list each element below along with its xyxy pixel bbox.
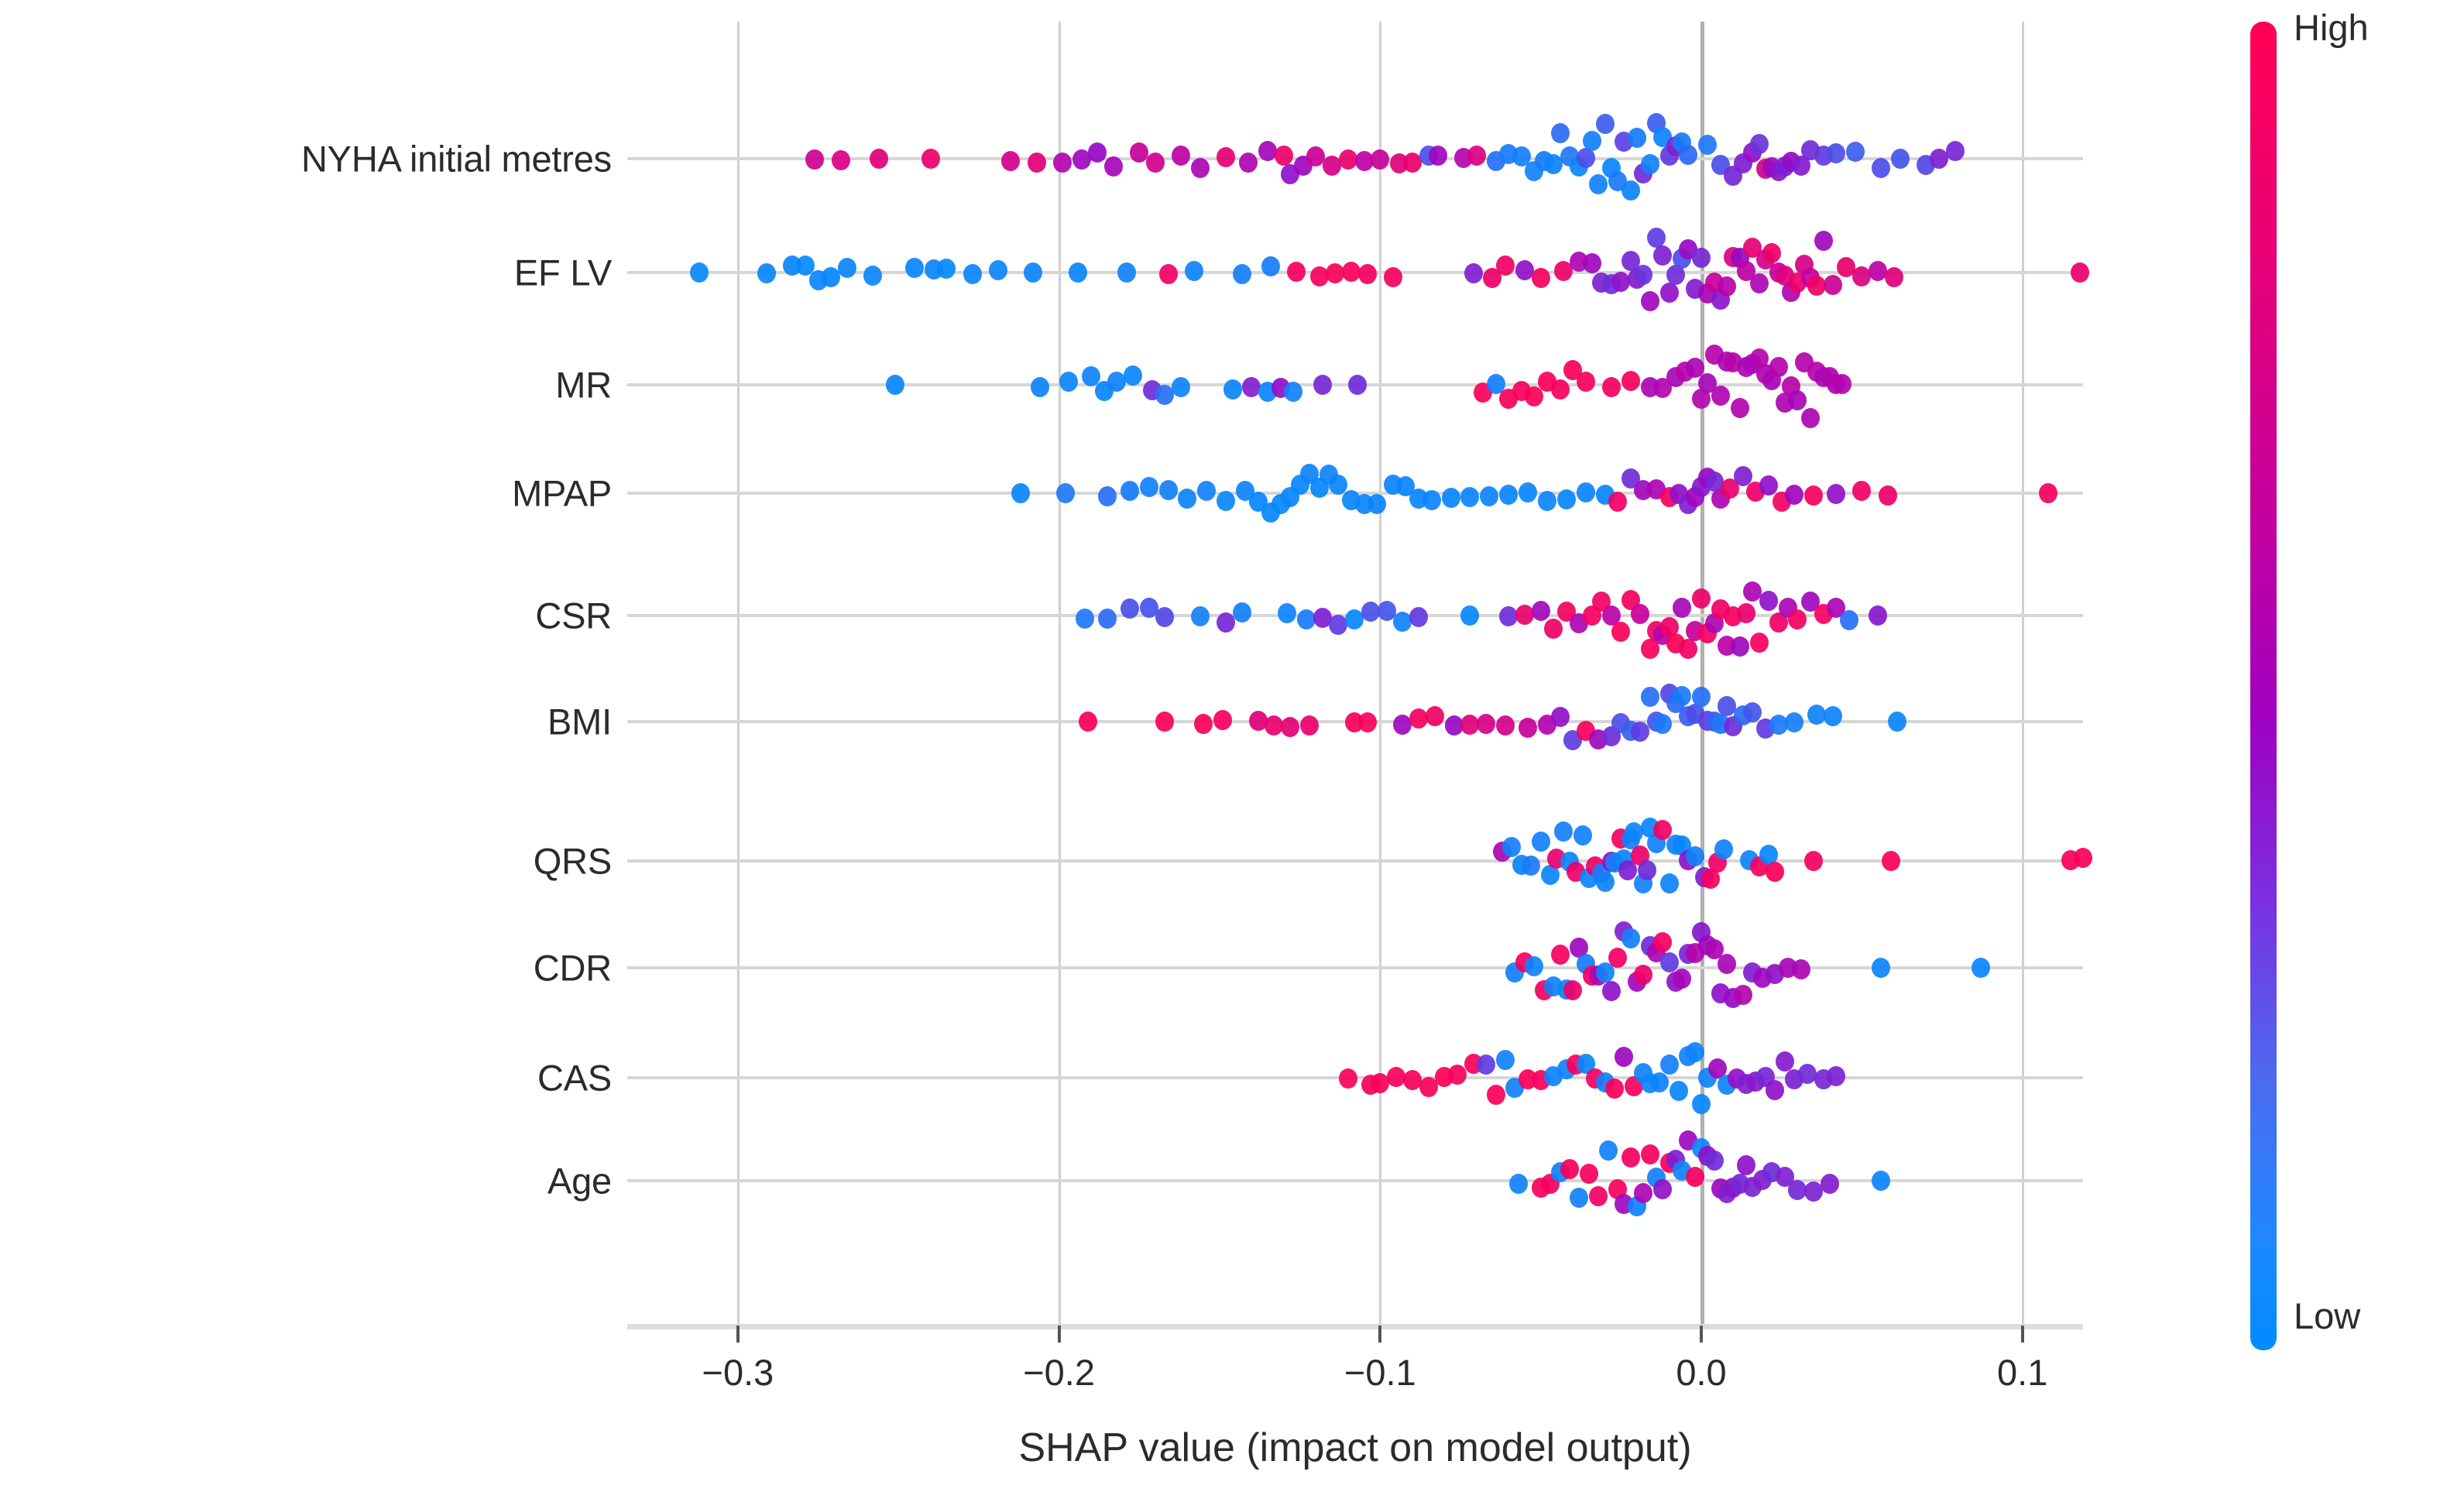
beeswarm-point: [1762, 243, 1781, 263]
beeswarm-point: [1653, 1179, 1672, 1199]
beeswarm-point: [1650, 1072, 1669, 1092]
beeswarm-point: [1692, 687, 1711, 707]
beeswarm-point: [1059, 372, 1078, 392]
beeswarm-point: [1120, 481, 1139, 501]
beeswarm-point: [1827, 1066, 1845, 1086]
x-axis-tick-label-0: −0.3: [702, 1351, 774, 1394]
beeswarm-point: [1329, 475, 1347, 495]
beeswarm-point: [1178, 489, 1196, 509]
beeswarm-point: [1191, 606, 1210, 626]
beeswarm-point: [838, 258, 856, 278]
beeswarm-point: [1776, 1051, 1794, 1072]
beeswarm-point: [1634, 265, 1652, 285]
beeswarm-point: [1496, 256, 1515, 276]
beeswarm-point: [1596, 114, 1615, 134]
beeswarm-point: [1024, 262, 1042, 283]
beeswarm-point: [1069, 262, 1087, 283]
beeswarm-point: [1313, 375, 1332, 395]
beeswarm-point: [1124, 365, 1142, 386]
beeswarm-point: [1605, 1079, 1624, 1099]
beeswarm-point: [1172, 146, 1190, 166]
beeswarm-point: [1804, 485, 1823, 506]
beeswarm-point: [1804, 851, 1823, 871]
beeswarm-point: [1718, 276, 1736, 297]
beeswarm-point: [1544, 619, 1563, 639]
beeswarm-point: [1557, 489, 1576, 509]
beeswarm-point: [1872, 158, 1890, 178]
beeswarm-point: [1233, 602, 1251, 622]
beeswarm-point: [1641, 291, 1659, 311]
beeswarm-point: [1570, 1188, 1588, 1208]
beeswarm-point: [1104, 156, 1123, 177]
beeswarm-point: [1660, 283, 1679, 303]
beeswarm-point: [1001, 151, 1020, 171]
beeswarm-point: [1660, 1055, 1679, 1075]
y-axis-labels: NYHA initial metresEF LVMRMPAPCSRBMIQRSC…: [0, 0, 612, 1509]
beeswarm-point: [1577, 372, 1595, 392]
beeswarm-point: [1522, 856, 1540, 876]
beeswarm-point: [1422, 490, 1441, 510]
beeswarm-point: [1191, 158, 1210, 178]
y-axis-tick-label-9: Age: [547, 1160, 612, 1202]
beeswarm-point: [1718, 954, 1736, 974]
beeswarm-point: [1261, 256, 1280, 276]
beeswarm-point: [2071, 262, 2089, 283]
beeswarm-point: [1146, 153, 1165, 173]
beeswarm-point: [1464, 263, 1483, 283]
beeswarm-point: [1608, 492, 1627, 512]
beeswarm-point: [1217, 147, 1235, 167]
beeswarm-point: [1577, 482, 1595, 502]
beeswarm-point: [1159, 264, 1178, 284]
beeswarm-point: [1634, 965, 1652, 985]
beeswarm-point: [1622, 928, 1640, 948]
y-axis-tick-label-7: CDR: [534, 947, 612, 989]
beeswarm-point: [1477, 1055, 1495, 1075]
beeswarm-point: [1217, 491, 1235, 511]
axis-bottom-spine: [627, 1324, 2083, 1329]
gridline-vertical: [2022, 22, 2024, 1324]
beeswarm-point: [1670, 1081, 1688, 1101]
gridline-horizontal: [627, 966, 2083, 969]
beeswarm-point: [1788, 390, 1807, 410]
beeswarm-point: [1972, 958, 1990, 978]
beeswarm-point: [963, 264, 982, 284]
beeswarm-point: [1480, 486, 1498, 506]
colorbar-gradient: [2250, 22, 2277, 1350]
beeswarm-point: [1641, 154, 1659, 174]
beeswarm-point: [1785, 485, 1803, 505]
beeswarm-point: [1348, 375, 1367, 395]
beeswarm-point: [1172, 377, 1190, 397]
beeswarm-point: [1140, 477, 1158, 497]
beeswarm-point: [1496, 715, 1515, 736]
beeswarm-point: [1824, 706, 1842, 726]
x-axis-tickmark-4: [2021, 1326, 2024, 1343]
beeswarm-point: [1641, 687, 1659, 707]
beeswarm-point: [1368, 494, 1386, 514]
beeswarm-point: [1358, 264, 1377, 284]
beeswarm-point: [1098, 486, 1117, 506]
beeswarm-point: [1814, 231, 1833, 251]
beeswarm-point: [1759, 591, 1778, 611]
beeswarm-point: [1011, 483, 1030, 503]
gridline-vertical: [1379, 22, 1381, 1324]
x-axis-tick-label-1: −0.2: [1023, 1351, 1095, 1394]
beeswarm-point: [1031, 377, 1049, 397]
beeswarm-point: [1827, 143, 1845, 163]
beeswarm-point: [1750, 134, 1769, 154]
beeswarm-point: [1882, 851, 1900, 871]
plot-area: [627, 22, 2083, 1324]
beeswarm-point: [1766, 1080, 1784, 1100]
beeswarm-point: [1692, 588, 1711, 609]
beeswarm-point: [1673, 969, 1691, 989]
beeswarm-point: [1098, 609, 1117, 629]
gridline-vertical: [1059, 22, 1061, 1324]
beeswarm-point: [1554, 821, 1573, 842]
beeswarm-point: [1076, 609, 1094, 629]
colorbar-low-label: Low: [2294, 1295, 2360, 1337]
beeswarm-point: [2039, 483, 2057, 503]
beeswarm-point: [1580, 1164, 1598, 1184]
beeswarm-point: [1660, 873, 1679, 893]
beeswarm-point: [1750, 633, 1769, 653]
beeswarm-point: [1460, 487, 1479, 507]
beeswarm-point: [1692, 1094, 1711, 1114]
x-axis-tick-label-2: −0.1: [1344, 1351, 1416, 1394]
y-axis-tick-label-2: MR: [555, 364, 612, 406]
beeswarm-point: [1673, 598, 1691, 618]
beeswarm-point: [1185, 261, 1203, 281]
beeswarm-point: [1117, 262, 1136, 283]
beeswarm-point: [1448, 1065, 1467, 1085]
beeswarm-point: [1300, 715, 1319, 736]
beeswarm-point: [1821, 1174, 1839, 1194]
beeswarm-point: [1852, 481, 1871, 501]
beeswarm-point: [1737, 1155, 1755, 1175]
beeswarm-point: [1750, 273, 1769, 293]
beeswarm-point: [937, 259, 956, 279]
beeswarm-point: [1759, 475, 1778, 496]
y-axis-tick-label-0: NYHA initial metres: [301, 138, 612, 180]
colorbar: [2250, 22, 2277, 1350]
beeswarm-point: [1653, 714, 1672, 734]
beeswarm-point: [870, 149, 888, 169]
gridline-horizontal: [627, 1179, 2083, 1182]
beeswarm-point: [1785, 712, 1803, 732]
beeswarm-point: [1788, 609, 1807, 629]
beeswarm-point: [1194, 714, 1213, 734]
gridline-vertical: [737, 22, 740, 1324]
beeswarm-point: [1409, 607, 1428, 627]
beeswarm-point: [1487, 1085, 1505, 1105]
beeswarm-point: [1731, 636, 1749, 657]
beeswarm-point: [1743, 702, 1762, 722]
beeswarm-point: [1641, 1144, 1659, 1164]
beeswarm-point: [1551, 707, 1570, 727]
beeswarm-point: [863, 266, 882, 286]
beeswarm-point: [1869, 605, 1887, 626]
beeswarm-point: [1499, 485, 1518, 505]
beeswarm-point: [1615, 1047, 1633, 1067]
beeswarm-point: [1622, 1147, 1640, 1168]
beeswarm-point: [1563, 980, 1582, 1000]
beeswarm-point: [1631, 722, 1649, 742]
x-axis-tickmark-1: [1058, 1326, 1061, 1343]
beeswarm-point: [989, 260, 1007, 280]
beeswarm-point: [1589, 1186, 1608, 1206]
y-axis-tick-label-8: CAS: [537, 1057, 612, 1099]
y-axis-tick-label-3: MPAP: [512, 472, 612, 515]
beeswarm-point: [1653, 932, 1672, 952]
beeswarm-point: [1358, 712, 1377, 732]
beeswarm-point: [1467, 146, 1486, 166]
beeswarm-point: [1053, 153, 1072, 173]
beeswarm-point: [1686, 846, 1704, 866]
beeswarm-point: [1371, 149, 1389, 170]
x-axis-tickmark-3: [1700, 1326, 1703, 1343]
beeswarm-point: [1056, 483, 1075, 503]
beeswarm-point: [1155, 712, 1174, 732]
beeswarm-point: [1602, 981, 1621, 1001]
beeswarm-point: [1824, 275, 1842, 295]
beeswarm-point: [921, 149, 940, 169]
beeswarm-point: [1120, 598, 1139, 619]
beeswarm-point: [1509, 1174, 1528, 1194]
beeswarm-point: [1496, 1050, 1515, 1070]
beeswarm-point: [757, 263, 776, 283]
beeswarm-point: [1711, 386, 1730, 406]
beeswarm-point: [1653, 245, 1672, 266]
beeswarm-point: [1946, 141, 1965, 161]
beeswarm-point: [1827, 484, 1845, 504]
beeswarm-point: [1281, 717, 1299, 737]
beeswarm-point: [1801, 408, 1820, 428]
beeswarm-point: [1429, 146, 1447, 166]
beeswarm-point: [832, 150, 850, 170]
beeswarm-point: [1611, 622, 1630, 642]
beeswarm-point: [1426, 706, 1444, 726]
beeswarm-point: [1608, 948, 1627, 968]
beeswarm-point: [1155, 607, 1174, 627]
beeswarm-point: [1628, 128, 1646, 148]
beeswarm-point: [1339, 1068, 1357, 1089]
beeswarm-point: [1560, 1159, 1579, 1179]
beeswarm-point: [1888, 712, 1906, 732]
beeswarm-point: [1213, 710, 1232, 730]
beeswarm-point: [1159, 480, 1178, 500]
beeswarm-point: [1622, 371, 1640, 391]
beeswarm-point: [1233, 264, 1251, 284]
beeswarm-point: [1275, 146, 1293, 166]
beeswarm-point: [1519, 718, 1537, 738]
x-axis-tickmark-0: [736, 1326, 740, 1343]
beeswarm-point: [1705, 1151, 1724, 1171]
beeswarm-point: [1840, 610, 1858, 630]
beeswarm-point: [1239, 153, 1258, 173]
beeswarm-point: [1769, 357, 1788, 377]
beeswarm-point: [1872, 958, 1890, 978]
x-axis-tickmark-2: [1378, 1326, 1381, 1343]
y-axis-tick-label-5: BMI: [547, 701, 612, 743]
beeswarm-point: [1891, 149, 1910, 169]
beeswarm-point: [1599, 1140, 1618, 1161]
beeswarm-point: [1460, 605, 1479, 626]
beeswarm-point: [1634, 1183, 1652, 1203]
beeswarm-point: [1551, 945, 1570, 965]
beeswarm-point: [1551, 379, 1570, 400]
beeswarm-point: [1734, 985, 1752, 1005]
beeswarm-point: [1731, 398, 1749, 418]
beeswarm-point: [1673, 686, 1691, 706]
shap-beeswarm-figure: NYHA initial metresEF LVMRMPAPCSRBMIQRSC…: [0, 0, 2464, 1509]
beeswarm-point: [1622, 180, 1640, 201]
y-axis-tick-label-6: QRS: [534, 840, 612, 883]
x-axis-tick-label-4: 0.1: [1997, 1351, 2047, 1394]
beeswarm-point: [1551, 123, 1570, 143]
beeswarm-point: [1660, 952, 1679, 972]
beeswarm-point: [1692, 248, 1711, 268]
beeswarm-point: [1686, 1167, 1704, 1187]
beeswarm-point: [1538, 491, 1556, 511]
beeswarm-point: [1872, 1171, 1890, 1191]
beeswarm-point: [1638, 860, 1656, 880]
gridline-horizontal: [627, 859, 2083, 863]
beeswarm-point: [1573, 825, 1592, 845]
beeswarm-point: [1519, 482, 1537, 502]
beeswarm-point: [1737, 603, 1755, 623]
beeswarm-point: [1079, 712, 1097, 732]
beeswarm-point: [2074, 848, 2092, 868]
beeswarm-point: [1885, 267, 1903, 287]
y-axis-tick-label-4: CSR: [535, 595, 612, 637]
beeswarm-point: [1846, 142, 1865, 162]
beeswarm-point: [1419, 1077, 1438, 1097]
beeswarm-point: [1602, 377, 1621, 397]
beeswarm-point: [1284, 382, 1302, 402]
beeswarm-point: [1596, 872, 1615, 892]
y-axis-tick-label-1: EF LV: [514, 252, 612, 294]
beeswarm-point: [1502, 837, 1521, 857]
beeswarm-point: [1879, 485, 1897, 506]
beeswarm-point: [1679, 639, 1697, 659]
beeswarm-point: [1589, 174, 1608, 194]
x-axis-title: SHAP value (impact on model output): [627, 1425, 2083, 1471]
colorbar-high-label: High: [2294, 6, 2369, 49]
gridline-vertical: [1700, 22, 1704, 1324]
beeswarm-point: [1532, 601, 1550, 621]
beeswarm-point: [1088, 142, 1107, 163]
beeswarm-point: [1583, 131, 1601, 151]
beeswarm-point: [905, 258, 924, 278]
beeswarm-point: [1532, 268, 1550, 288]
beeswarm-point: [1698, 135, 1717, 155]
x-axis-tick-label-3: 0.0: [1676, 1351, 1726, 1394]
beeswarm-point: [1833, 374, 1851, 394]
beeswarm-point: [1714, 839, 1733, 859]
beeswarm-point: [1532, 832, 1550, 852]
beeswarm-point: [1583, 253, 1601, 273]
beeswarm-point: [1679, 145, 1697, 165]
beeswarm-point: [805, 149, 824, 170]
beeswarm-point: [1278, 603, 1296, 623]
beeswarm-point: [690, 262, 709, 283]
beeswarm-point: [1197, 481, 1216, 501]
beeswarm-point: [886, 375, 904, 395]
beeswarm-point: [1631, 604, 1649, 624]
beeswarm-point: [1686, 1042, 1704, 1062]
beeswarm-point: [1525, 956, 1543, 976]
beeswarm-point: [1287, 262, 1306, 282]
beeswarm-point: [1384, 267, 1402, 287]
beeswarm-point: [1792, 959, 1810, 979]
beeswarm-point: [1766, 862, 1784, 882]
beeswarm-point: [1223, 379, 1242, 400]
beeswarm-point: [1442, 488, 1460, 508]
beeswarm-point: [1028, 153, 1046, 173]
beeswarm-point: [1477, 714, 1495, 734]
